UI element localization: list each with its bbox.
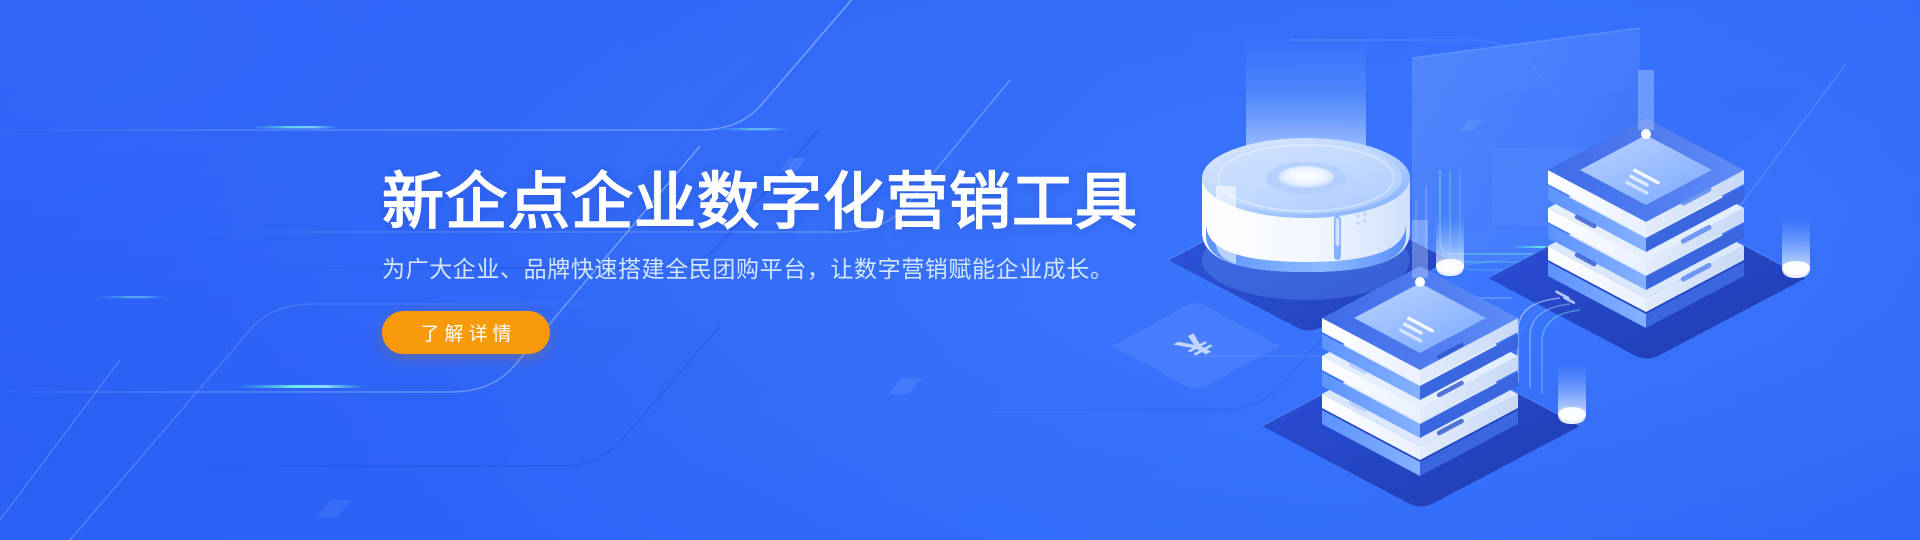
page-title: 新企点企业数字化营销工具 xyxy=(382,166,1202,240)
hero-banner: 新企点企业数字化营销工具 为广大企业、品牌快速搭建全民团购平台，让数字营销赋能企… xyxy=(0,0,1920,540)
bg-edge-highlight xyxy=(0,360,120,520)
light-post-2 xyxy=(1782,220,1810,278)
light-post-3 xyxy=(1558,366,1586,424)
cta-container: 了解详情 xyxy=(382,311,1202,354)
illus-edge-line xyxy=(1740,64,1846,206)
learn-more-button[interactable]: 了解详情 xyxy=(382,311,550,354)
hero-copy: 新企点企业数字化营销工具 为广大企业、品牌快速搭建全民团购平台，让数字营销赋能企… xyxy=(382,166,1202,354)
page-subtitle: 为广大企业、品牌快速搭建全民团购平台，让数字营销赋能企业成长。 xyxy=(382,252,1202,286)
light-post-1 xyxy=(1436,218,1464,276)
smart-hub-device xyxy=(1202,138,1410,300)
